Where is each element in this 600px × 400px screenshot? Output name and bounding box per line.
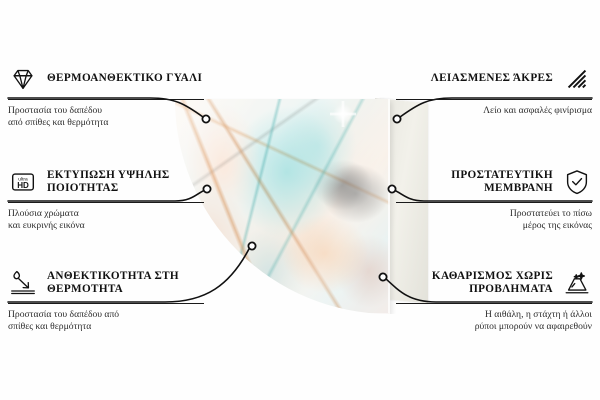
desc-line-2: μέρος της εικόνας (396, 220, 592, 232)
feature-high-quality-print: ultra HD ΕΚΤΥΠΩΣΗ ΥΨΗΛΗΣ ΠΟΙΟΤΗΤΑΣ Πλούσ… (8, 167, 204, 232)
shield-check-icon (562, 167, 592, 197)
desc-line-2: από σπίθες και θερμότητα (8, 117, 204, 129)
feature-description: Λείο και ασφαλές φινίρισμα (396, 105, 592, 117)
feature-header: ultra HD ΕΚΤΥΠΩΣΗ ΥΨΗΛΗΣ ΠΟΙΟΤΗΤΑΣ (8, 167, 204, 197)
feature-header: ΑΝΘΕΚΤΙΚΟΤΗΤΑ ΣΤΗ ΘΕΡΜΟΤΗΤΑ (8, 268, 204, 298)
desc-line-1: Λείο και ασφαλές φινίρισμα (396, 105, 592, 117)
connector-dot-6 (379, 273, 386, 280)
desc-line-1: Προστατεύει το πίσω (396, 208, 592, 220)
feature-header: ΚΑΘΑΡΙΣΜΟΣ ΧΩΡΙΣ ΠΡΟΒΛΗΜΑΤΑ (396, 268, 592, 298)
feature-header: ΠΡΟΣΤΑΤΕΥΤΙΚΗ ΜΕΜΒΡΑΝΗ (396, 167, 592, 197)
divider (396, 303, 592, 304)
connector-dot-2 (203, 185, 210, 192)
feature-polished-edges: ΛΕΙΑΣΜΕΝΕΣ ΆΚΡΕΣ Λείο και ασφαλές φινίρι… (396, 64, 592, 117)
feature-header: ΛΕΙΑΣΜΕΝΕΣ ΆΚΡΕΣ (396, 64, 592, 94)
feature-title: ΘΕΡΜΟΑΝΘΕΚΤΙΚΟ ΓΥΑΛΙ (47, 72, 202, 86)
diamond-icon (8, 64, 38, 94)
feature-description: Πλούσια χρώματα και ευκρινής εικόνα (8, 208, 204, 232)
feature-title: ΕΚΤΥΠΩΣΗ ΥΨΗΛΗΣ ΠΟΙΟΤΗΤΑΣ (47, 169, 204, 196)
desc-line-1: Προστασία του δαπέδου από (8, 309, 204, 321)
ultra-hd-icon: ultra HD (8, 167, 38, 197)
hd-label: HD (17, 181, 29, 190)
feature-description: Προστατεύει το πίσω μέρος της εικόνας (396, 208, 592, 232)
divider (396, 99, 592, 100)
divider (8, 202, 204, 203)
desc-line-1: Πλούσια χρώματα (8, 208, 204, 220)
feature-header: ΘΕΡΜΟΑΝΘΕΚΤΙΚΟ ΓΥΑΛΙ (8, 64, 204, 94)
connector-dot-5 (388, 185, 395, 192)
divider (396, 202, 592, 203)
feature-title: ΠΡΟΣΤΑΤΕΥΤΙΚΗ ΜΕΜΒΡΑΝΗ (396, 169, 553, 196)
diagonal-stripes-icon (562, 64, 592, 94)
sparkle-cloth-icon (562, 268, 592, 298)
connector-dot-3 (248, 242, 255, 249)
feature-description: Η αιθάλη, η στάχτη ή άλλοι ρύποι μπορούν… (396, 309, 592, 333)
feature-heat-durability: ΑΝΘΕΚΤΙΚΟΤΗΤΑ ΣΤΗ ΘΕΡΜΟΤΗΤΑ Προστασία το… (8, 268, 204, 333)
desc-line-2: και ευκρινής εικόνα (8, 220, 204, 232)
divider (8, 99, 204, 100)
feature-heat-resistant-glass: ΘΕΡΜΟΑΝΘΕΚΤΙΚΟ ΓΥΑΛΙ Προστασία του δαπέδ… (8, 64, 204, 129)
feature-description: Προστασία του δαπέδου από σπίθες και θερ… (8, 309, 204, 333)
feature-protective-membrane: ΠΡΟΣΤΑΤΕΥΤΙΚΗ ΜΕΜΒΡΑΝΗ Προστατεύει το πί… (396, 167, 592, 232)
feature-title: ΚΑΘΑΡΙΣΜΟΣ ΧΩΡΙΣ ΠΡΟΒΛΗΜΑΤΑ (396, 270, 553, 297)
feature-title: ΛΕΙΑΣΜΕΝΕΣ ΆΚΡΕΣ (431, 72, 553, 86)
desc-line-1: Η αιθάλη, η στάχτη ή άλλοι (396, 309, 592, 321)
desc-line-2: ρύποι μπορούν να αφαιρεθούν (396, 321, 592, 333)
infographic-canvas: ΘΕΡΜΟΑΝΘΕΚΤΙΚΟ ΓΥΑΛΙ Προστασία του δαπέδ… (0, 0, 600, 400)
divider (8, 303, 204, 304)
feature-title: ΑΝΘΕΚΤΙΚΟΤΗΤΑ ΣΤΗ ΘΕΡΜΟΤΗΤΑ (47, 270, 204, 297)
feature-easy-cleaning: ΚΑΘΑΡΙΣΜΟΣ ΧΩΡΙΣ ΠΡΟΒΛΗΜΑΤΑ Η αιθάλη, η … (396, 268, 592, 333)
flame-deflect-icon (8, 268, 38, 298)
feature-description: Προστασία του δαπέδου από σπίθες και θερ… (8, 105, 204, 129)
desc-line-2: σπίθες και θερμότητα (8, 321, 204, 333)
desc-line-1: Προστασία του δαπέδου (8, 105, 204, 117)
